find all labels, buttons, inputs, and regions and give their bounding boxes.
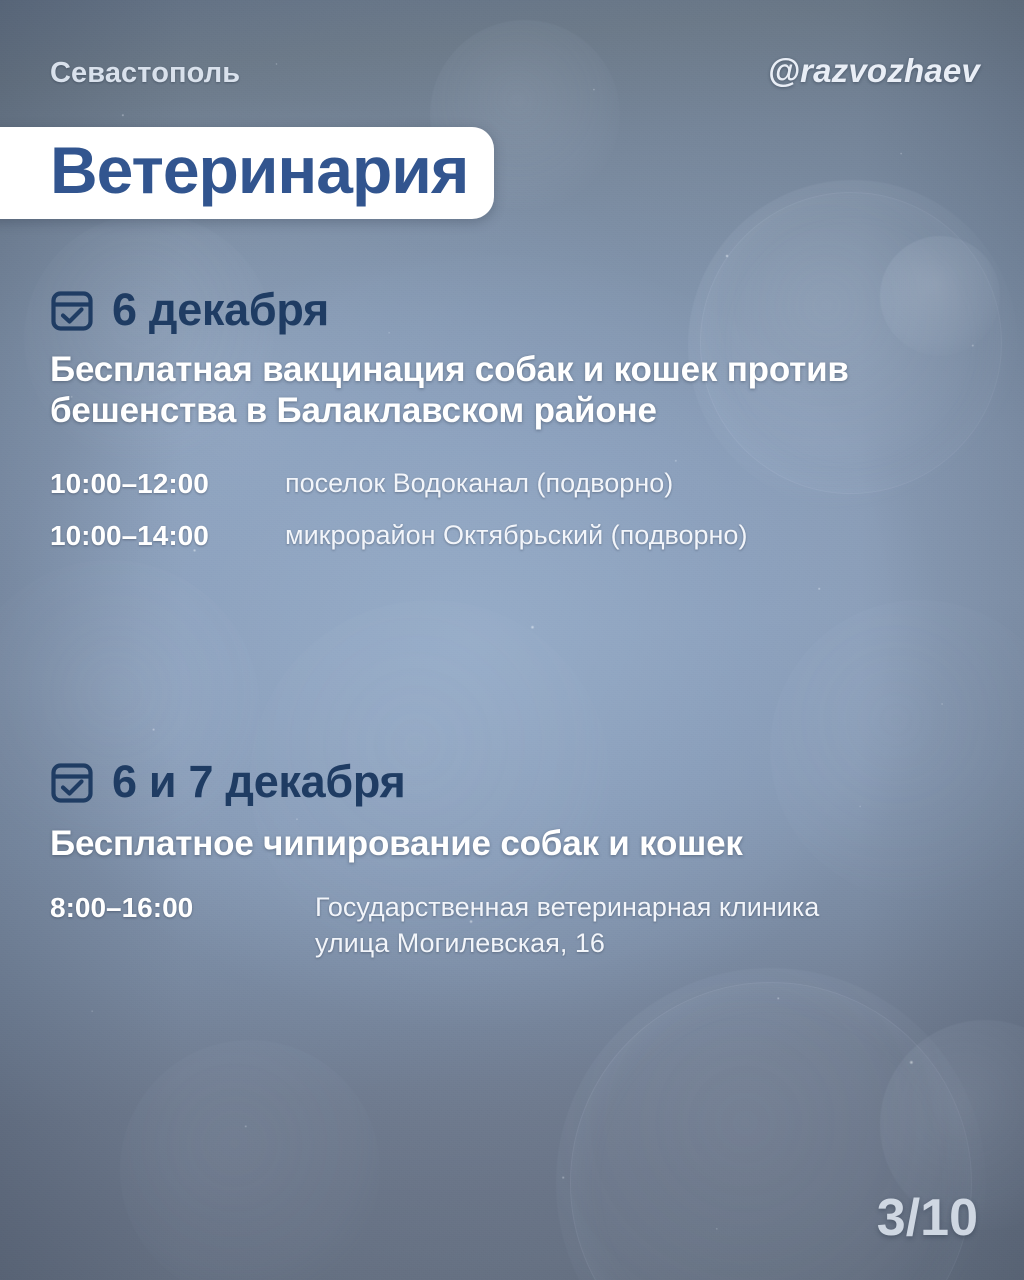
event-date-row: 6 и 7 декабря — [50, 760, 984, 805]
schedule-row: 8:00–16:00 Государственная ветеринарная … — [50, 890, 984, 962]
schedule-place: поселок Водоканал (подворно) — [285, 466, 673, 502]
event-section-1: 6 декабря Бесплатная вакцинация собак и … — [50, 288, 984, 555]
event-date-row: 6 декабря — [50, 288, 984, 333]
calendar-check-icon — [50, 289, 94, 333]
event-section-2: 6 и 7 декабря Бесплатное чипирование соб… — [50, 760, 984, 962]
schedule-time: 8:00–16:00 — [50, 890, 315, 927]
event-schedule-list: 8:00–16:00 Государственная ветеринарная … — [50, 890, 984, 962]
schedule-time: 10:00–14:00 — [50, 518, 285, 555]
schedule-row: 10:00–12:00 поселок Водоканал (подворно) — [50, 466, 984, 503]
calendar-check-icon — [50, 761, 94, 805]
event-date-label: 6 и 7 декабря — [112, 759, 405, 804]
event-date-label: 6 декабря — [112, 287, 329, 332]
event-headline: Бесплатное чипирование собак и кошек — [50, 823, 980, 864]
schedule-place-line: улица Могилевская, 16 — [315, 926, 819, 962]
schedule-place-line: поселок Водоканал (подворно) — [285, 466, 673, 502]
page-title-chip: Ветеринария — [0, 127, 494, 219]
schedule-place-line: микрорайон Октябрьский (подворно) — [285, 518, 747, 554]
brand-city-label: Севастополь — [50, 57, 240, 90]
schedule-row: 10:00–14:00 микрорайон Октябрьский (подв… — [50, 518, 984, 555]
poster-content: Севастополь @razvozhaev Ветеринария 6 де… — [0, 0, 1024, 1280]
page-title: Ветеринария — [50, 137, 468, 203]
page-indicator: 3/10 — [877, 1192, 978, 1244]
event-schedule-list: 10:00–12:00 поселок Водоканал (подворно)… — [50, 466, 984, 555]
brand-row: Севастополь @razvozhaev — [50, 52, 980, 90]
event-headline: Бесплатная вакцинация собак и кошек прот… — [50, 349, 980, 432]
poster-slide: Севастополь @razvozhaev Ветеринария 6 де… — [0, 0, 1024, 1280]
schedule-time: 10:00–12:00 — [50, 466, 285, 503]
brand-handle-label: @razvozhaev — [768, 52, 980, 90]
schedule-place-line: Государственная ветеринарная клиника — [315, 890, 819, 926]
schedule-place: микрорайон Октябрьский (подворно) — [285, 518, 747, 554]
schedule-place: Государственная ветеринарная клиника ули… — [315, 890, 819, 962]
